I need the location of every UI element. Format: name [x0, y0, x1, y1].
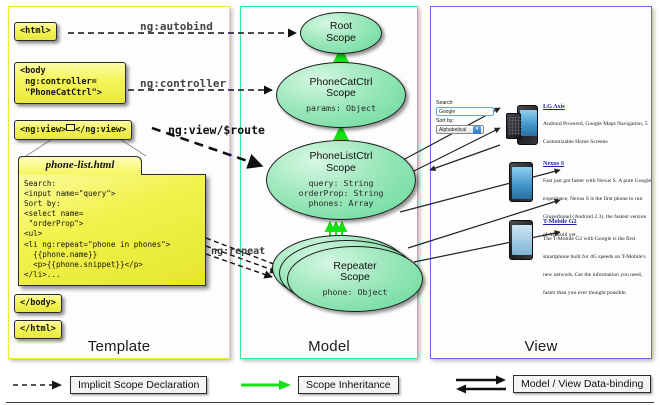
label-ng-autobind: ng:autobind: [140, 20, 213, 33]
search-label: Search:: [436, 100, 498, 106]
legend-divider: [6, 402, 654, 403]
scope-phonelistctrl-props: query: String orderProp: String phones: …: [299, 178, 384, 209]
scope-phonelistctrl-title: PhoneListCtrl Scope: [309, 151, 372, 175]
chevron-down-icon: ▾: [473, 126, 481, 134]
ng-view-close-tag: </ng:view>: [75, 125, 126, 135]
sort-select[interactable]: Alphabetical ▾: [436, 125, 484, 134]
code-box-body-open: <body ng:controller= "PhoneCatCtrl">: [14, 62, 126, 104]
phone-snippet: The T-Mobile G2 with Google is the first…: [543, 236, 646, 296]
search-input[interactable]: Google: [436, 107, 494, 116]
scope-root: Root Scope: [300, 12, 382, 54]
phone-image-icon: [506, 160, 538, 204]
label-ng-controller: ng:controller: [140, 77, 226, 90]
phone-list-callout: phone-list.html Search: <input name="que…: [18, 156, 206, 288]
scope-phonecatctrl-props: params: Object: [306, 103, 376, 113]
scope-repeater-title: Repeater Scope: [333, 261, 376, 285]
scope-repeater: Repeater Scope phone: Object: [287, 246, 423, 312]
code-box-body-close: </body>: [14, 294, 62, 313]
code-box-html-close: </html>: [14, 320, 62, 339]
label-ng-view-route: ng:view/$route: [168, 123, 265, 137]
scope-root-title: Root Scope: [326, 21, 356, 45]
legend-item-scope-inheritance: Scope Inheritance: [240, 376, 399, 394]
legend: Implicit Scope Declaration Scope Inherit…: [0, 366, 660, 405]
dashed-arrow-icon: [12, 379, 64, 391]
phone-name-link[interactable]: LG Axis: [543, 103, 652, 110]
column-label-template: Template: [9, 338, 229, 355]
callout-code: Search: <input name="query"> Sort by: <s…: [18, 174, 206, 286]
ng-view-open-tag: <ng:view>: [20, 125, 66, 135]
list-item[interactable]: T-Mobile G2 The T-Mobile G2 with Google …: [506, 218, 652, 299]
legend-item-data-binding: Model / View Data-binding: [455, 374, 651, 394]
diagram-canvas: Template Model View: [0, 0, 660, 405]
legend-label: Implicit Scope Declaration: [70, 376, 207, 394]
scope-phonelistctrl: PhoneListCtrl Scope query: String orderP…: [266, 140, 416, 220]
ng-view-placeholder-icon: [66, 124, 75, 131]
phone-image-icon: [506, 218, 538, 262]
column-label-view: View: [431, 338, 651, 355]
scope-repeater-props: phone: Object: [323, 287, 388, 297]
legend-item-implicit-scope: Implicit Scope Declaration: [12, 376, 207, 394]
phone-image-icon: [506, 103, 538, 147]
sort-label: Sort by:: [436, 118, 498, 124]
label-ng-repeat: ng:repeat: [211, 246, 265, 257]
legend-label: Scope Inheritance: [298, 376, 399, 394]
list-item[interactable]: LG Axis Android Powered, Google Maps Nav…: [506, 103, 652, 148]
scope-phonecatctrl: PhoneCatCtrl Scope params: Object: [276, 62, 406, 128]
sort-select-value: Alphabetical: [439, 126, 466, 134]
double-arrow-icon: [455, 374, 507, 394]
phone-name-link[interactable]: T-Mobile G2: [543, 218, 652, 225]
scope-phonecatctrl-title: PhoneCatCtrl Scope: [309, 77, 372, 101]
code-box-html-open: <html>: [14, 22, 57, 41]
view-search-form[interactable]: Search: Google Sort by: Alphabetical ▾: [436, 100, 498, 134]
code-box-ng-view: <ng:view></ng:view>: [14, 120, 132, 140]
phone-snippet: Android Powered, Google Maps Navigation,…: [543, 121, 648, 145]
solid-arrow-icon: [240, 379, 292, 391]
callout-filename: phone-list.html: [18, 156, 142, 175]
column-label-model: Model: [241, 338, 417, 355]
legend-label: Model / View Data-binding: [513, 375, 651, 393]
phone-name-link[interactable]: Nexus S: [543, 160, 652, 167]
